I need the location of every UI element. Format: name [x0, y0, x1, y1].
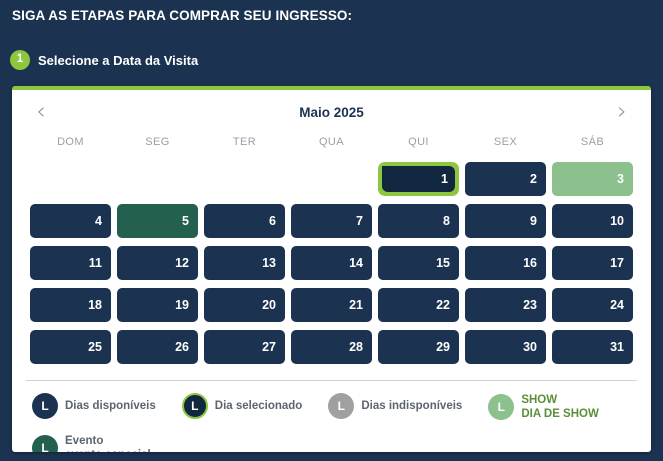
purchase-step-page: SIGA AS ETAPAS PARA COMPRAR SEU INGRESSO… — [0, 0, 663, 461]
weekday-label-dom: DOM — [30, 130, 111, 162]
day-cell-17[interactable]: 17 — [552, 246, 633, 280]
day-cell-5[interactable]: 5 — [117, 204, 198, 238]
calendar-cell: 23 — [465, 288, 546, 322]
legend-swatch-unavailable: L — [328, 393, 354, 419]
step-indicator: 1 Selecione a Data da Visita — [10, 50, 198, 70]
legend-label: Dias indisponíveis — [361, 399, 462, 413]
day-cell-24[interactable]: 24 — [552, 288, 633, 322]
prev-month-icon[interactable]: ‹ — [26, 96, 56, 126]
day-cell-16[interactable]: 16 — [465, 246, 546, 280]
calendar-cell: 7 — [291, 204, 372, 238]
legend-label: Eventoevento especial — [65, 434, 151, 452]
calendar-cell: 2 — [465, 162, 546, 196]
legend-swatch-show: L — [488, 394, 514, 420]
calendar-cell: 5 — [117, 204, 198, 238]
legend-label: Dias disponíveis — [65, 399, 156, 413]
day-cell-26[interactable]: 26 — [117, 330, 198, 364]
step-title: Selecione a Data da Visita — [38, 53, 198, 68]
calendar-cell: 4 — [30, 204, 111, 238]
calendar-card: ‹ Maio 2025 › DOMSEGTERQUAQUISEXSÁB 1234… — [12, 86, 651, 452]
calendar-cell: 19 — [117, 288, 198, 322]
next-month-icon[interactable]: › — [607, 96, 637, 126]
legend-swatch-event: L — [32, 435, 58, 452]
calendar-cell: 24 — [552, 288, 633, 322]
day-cell-29[interactable]: 29 — [378, 330, 459, 364]
day-cell-25[interactable]: 25 — [30, 330, 111, 364]
day-cell-21[interactable]: 21 — [291, 288, 372, 322]
legend-label-line1: Dias indisponíveis — [361, 400, 462, 412]
day-cell-31[interactable]: 31 — [552, 330, 633, 364]
legend-label-line1: Dia selecionado — [215, 400, 303, 412]
calendar-cell: 30 — [465, 330, 546, 364]
day-cell-4[interactable]: 4 — [30, 204, 111, 238]
day-cell-27[interactable]: 27 — [204, 330, 285, 364]
legend-item-show: LSHOWDIA DE SHOW — [488, 393, 599, 422]
day-cell-8[interactable]: 8 — [378, 204, 459, 238]
day-cell-3[interactable]: 3 — [552, 162, 633, 196]
day-cell-13[interactable]: 13 — [204, 246, 285, 280]
calendar-cell: 20 — [204, 288, 285, 322]
legend-item-unavailable: LDias indisponíveis — [328, 393, 462, 419]
day-cell-14[interactable]: 14 — [291, 246, 372, 280]
legend-swatch-available: L — [32, 393, 58, 419]
weekday-label-sex: SEX — [465, 130, 546, 162]
calendar-cell — [291, 162, 372, 196]
calendar-cell: 21 — [291, 288, 372, 322]
day-cell-empty — [117, 162, 198, 196]
calendar-cell: 15 — [378, 246, 459, 280]
calendar-legend: LDias disponíveisLDia selecionadoLDias i… — [12, 381, 651, 452]
day-cell-9[interactable]: 9 — [465, 204, 546, 238]
calendar-cell: 29 — [378, 330, 459, 364]
day-cell-11[interactable]: 11 — [30, 246, 111, 280]
calendar-cell: 16 — [465, 246, 546, 280]
calendar-cell: 6 — [204, 204, 285, 238]
legend-item-available: LDias disponíveis — [32, 393, 156, 419]
month-title: Maio 2025 — [299, 105, 364, 120]
day-cell-23[interactable]: 23 — [465, 288, 546, 322]
calendar-cell: 12 — [117, 246, 198, 280]
calendar-day-grid: 1234567891011121314151617181920212223242… — [12, 162, 651, 364]
calendar-cell: 31 — [552, 330, 633, 364]
calendar-cell: 14 — [291, 246, 372, 280]
calendar-cell: 13 — [204, 246, 285, 280]
day-cell-20[interactable]: 20 — [204, 288, 285, 322]
weekday-label-qui: QUI — [378, 130, 459, 162]
calendar-cell: 18 — [30, 288, 111, 322]
calendar-cell: 22 — [378, 288, 459, 322]
day-cell-6[interactable]: 6 — [204, 204, 285, 238]
weekday-label-sáb: SÁB — [552, 130, 633, 162]
calendar-cell: 9 — [465, 204, 546, 238]
calendar-cell — [30, 162, 111, 196]
legend-label-line2: evento especial — [65, 448, 151, 452]
legend-label: Dia selecionado — [215, 399, 303, 413]
day-cell-7[interactable]: 7 — [291, 204, 372, 238]
legend-label-line1: Evento — [65, 435, 103, 447]
calendar-cell: 27 — [204, 330, 285, 364]
legend-label-line1: Dias disponíveis — [65, 400, 156, 412]
weekday-label-ter: TER — [204, 130, 285, 162]
calendar-cell: 10 — [552, 204, 633, 238]
day-cell-2[interactable]: 2 — [465, 162, 546, 196]
day-cell-1[interactable]: 1 — [378, 162, 459, 196]
calendar-cell: 11 — [30, 246, 111, 280]
calendar-cell: 28 — [291, 330, 372, 364]
day-cell-28[interactable]: 28 — [291, 330, 372, 364]
legend-swatch-selected: L — [182, 393, 208, 419]
calendar-cell: 26 — [117, 330, 198, 364]
calendar-cell: 3 — [552, 162, 633, 196]
calendar-cell: 25 — [30, 330, 111, 364]
calendar-cell — [117, 162, 198, 196]
day-cell-empty — [204, 162, 285, 196]
day-cell-22[interactable]: 22 — [378, 288, 459, 322]
day-cell-empty — [291, 162, 372, 196]
weekday-label-qua: QUA — [291, 130, 372, 162]
calendar-cell — [204, 162, 285, 196]
day-number: 1 — [382, 166, 455, 192]
day-cell-19[interactable]: 19 — [117, 288, 198, 322]
legend-label: SHOWDIA DE SHOW — [521, 393, 599, 422]
day-cell-30[interactable]: 30 — [465, 330, 546, 364]
weekday-header-row: DOMSEGTERQUAQUISEXSÁB — [12, 130, 651, 162]
calendar-cell: 8 — [378, 204, 459, 238]
calendar-cell: 1 — [378, 162, 459, 196]
page-headline: SIGA AS ETAPAS PARA COMPRAR SEU INGRESSO… — [12, 8, 352, 23]
month-navigation-bar: ‹ Maio 2025 › — [12, 94, 651, 130]
day-cell-12[interactable]: 12 — [117, 246, 198, 280]
calendar-cell: 17 — [552, 246, 633, 280]
day-cell-15[interactable]: 15 — [378, 246, 459, 280]
legend-label-line1: SHOW — [521, 394, 557, 406]
day-cell-empty — [30, 162, 111, 196]
legend-item-event: LEventoevento especial — [32, 434, 151, 452]
day-cell-18[interactable]: 18 — [30, 288, 111, 322]
legend-label-line2: DIA DE SHOW — [521, 407, 599, 421]
weekday-label-seg: SEG — [117, 130, 198, 162]
day-cell-10[interactable]: 10 — [552, 204, 633, 238]
step-number-badge: 1 — [10, 50, 30, 70]
legend-item-selected: LDia selecionado — [182, 393, 303, 419]
